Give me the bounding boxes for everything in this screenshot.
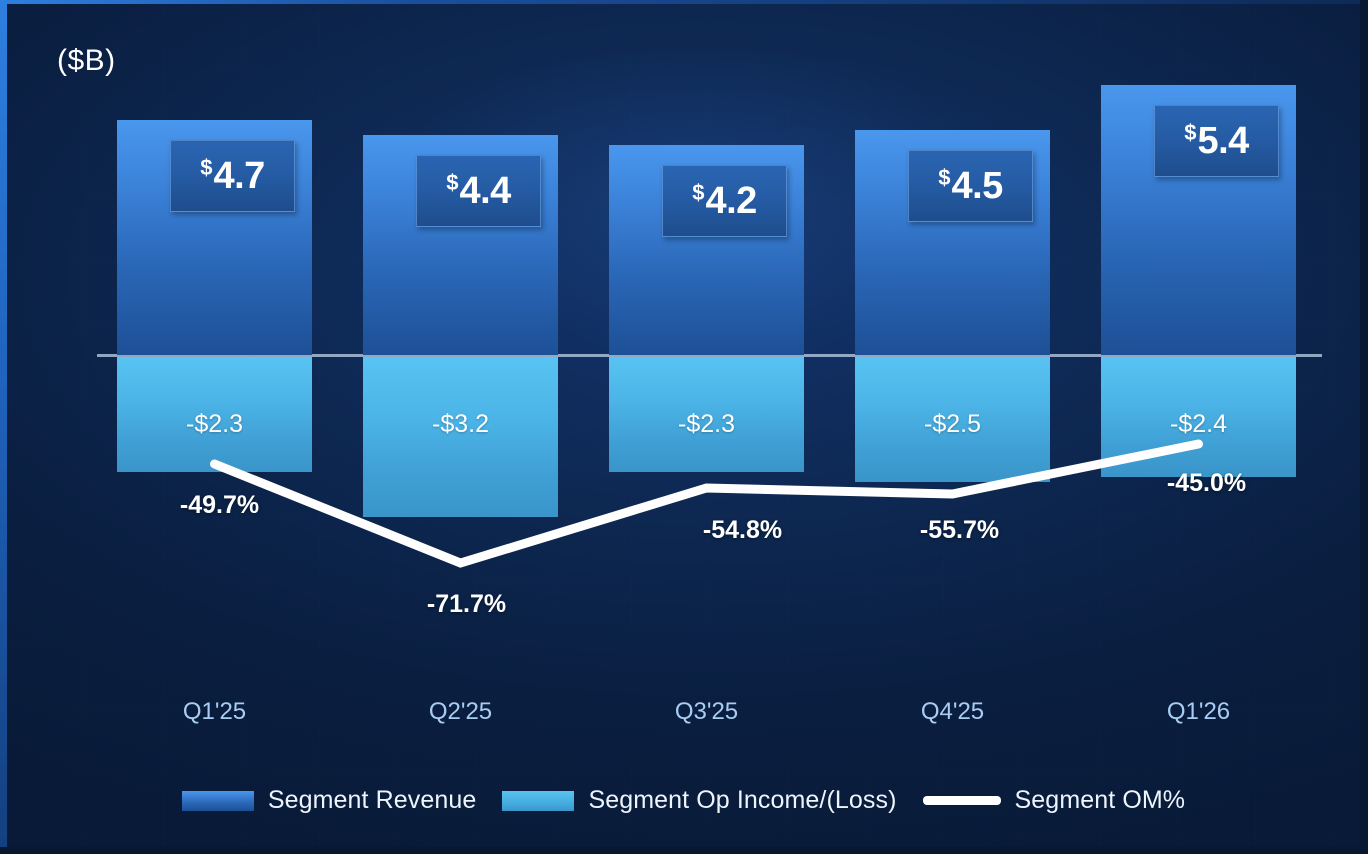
legend-label: Segment OM% [1015, 786, 1186, 815]
legend-swatch-op-income-icon [502, 791, 574, 811]
x-axis-label: Q1'25 [117, 698, 312, 726]
revenue-value: 4.4 [459, 170, 510, 213]
x-axis-label: Q1'26 [1101, 698, 1296, 726]
op-loss-value-label: -$2.3 [117, 410, 312, 439]
revenue-value: 4.2 [705, 180, 756, 223]
op-loss-value-label: -$2.4 [1101, 410, 1296, 439]
legend-item[interactable]: Segment Revenue [182, 786, 477, 815]
revenue-value-label: $4.4 [416, 155, 541, 227]
om-percent-label: -49.7% [122, 491, 317, 520]
legend-swatch-revenue-icon [182, 791, 254, 811]
om-percent-label: -45.0% [1109, 469, 1304, 498]
revenue-value-label: $4.7 [170, 140, 295, 212]
slide-right-border [1360, 0, 1368, 854]
currency-symbol: $ [200, 155, 212, 181]
x-axis-label: Q3'25 [609, 698, 804, 726]
revenue-value-label: $4.5 [908, 150, 1033, 222]
currency-symbol: $ [692, 180, 704, 206]
currency-symbol: $ [938, 165, 950, 191]
revenue-value-label: $5.4 [1154, 105, 1279, 177]
revenue-value: 5.4 [1197, 120, 1248, 163]
currency-symbol: $ [1184, 120, 1196, 146]
revenue-value-label: $4.2 [662, 165, 787, 237]
op-loss-value-label: -$3.2 [363, 410, 558, 439]
slide-bottom-border [0, 847, 1368, 854]
slide-left-accent-border [0, 0, 7, 854]
om-percent-label: -71.7% [369, 590, 564, 619]
revenue-value: 4.5 [951, 165, 1002, 208]
x-axis-label: Q4'25 [855, 698, 1050, 726]
legend-item[interactable]: Segment OM% [923, 786, 1186, 815]
om-percent-label: -54.8% [645, 516, 840, 545]
op-loss-value-label: -$2.5 [855, 410, 1050, 439]
x-axis-label: Q2'25 [363, 698, 558, 726]
chart-panel: ($B) $4.7-$2.3Q1'25$4.4-$3.2Q2'25$4.2-$2… [7, 4, 1360, 847]
op-loss-value-label: -$2.3 [609, 410, 804, 439]
legend-label: Segment Op Income/(Loss) [588, 786, 896, 815]
chart-plot-area: $4.7-$2.3Q1'25$4.4-$3.2Q2'25$4.2-$2.3Q3'… [7, 4, 1360, 847]
legend-item[interactable]: Segment Op Income/(Loss) [502, 786, 896, 815]
revenue-value: 4.7 [213, 155, 264, 198]
slide-canvas: ($B) $4.7-$2.3Q1'25$4.4-$3.2Q2'25$4.2-$2… [0, 0, 1368, 854]
chart-legend: Segment RevenueSegment Op Income/(Loss)S… [7, 786, 1360, 815]
legend-label: Segment Revenue [268, 786, 477, 815]
om-percent-label: -55.7% [862, 516, 1057, 545]
currency-symbol: $ [446, 170, 458, 196]
legend-swatch-om-line-icon [923, 796, 1001, 805]
